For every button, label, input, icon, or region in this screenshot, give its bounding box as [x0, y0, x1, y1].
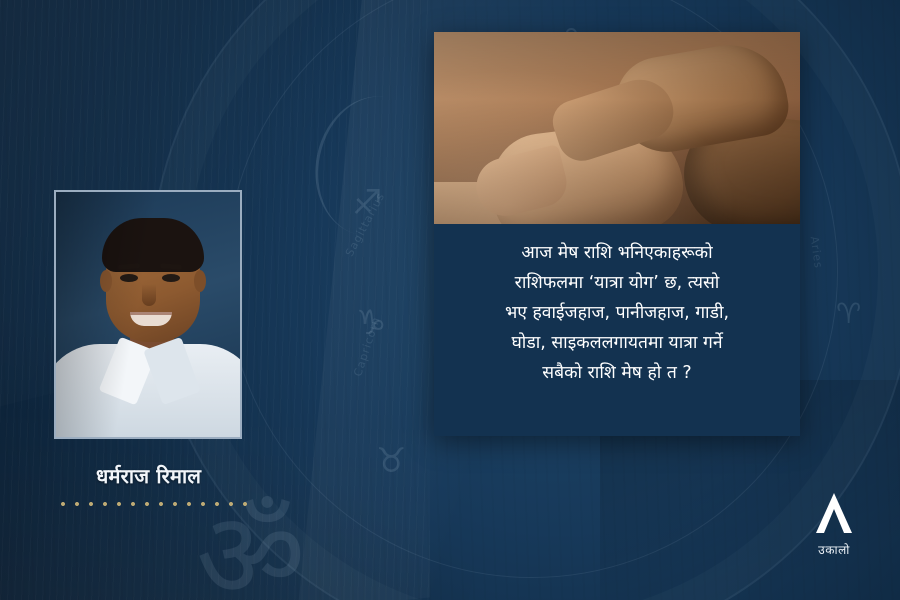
ukaalo-mark-icon	[811, 490, 857, 536]
dotted-divider	[56, 500, 252, 508]
quote-text-block: आज मेष राशि भनिएकाहरूको राशिफलमा ‘यात्रा…	[434, 224, 800, 436]
hands-photo	[434, 32, 800, 224]
brand-name: उकालो	[804, 541, 864, 558]
quote-line-1: आज मेष राशि भनिएकाहरूको	[452, 238, 782, 268]
quote-line-5: सबैको राशि मेष हो त ?	[452, 358, 782, 388]
quote-line-4: घोडा, साइकललगायतमा यात्रा गर्ने	[452, 328, 782, 358]
aries-icon: ♈	[836, 300, 861, 328]
om-symbol-watermark: ॐ	[196, 470, 305, 600]
quote-line-3: भए हवाईजहाज, पानीजहाज, गाडी,	[452, 298, 782, 328]
author-name: धर्मराज रिमाल	[96, 462, 201, 489]
quote-line-2: राशिफलमा ‘यात्रा योग’ छ, त्यसो	[452, 268, 782, 298]
taurus-icon: ♉	[376, 444, 406, 478]
quote-card: आज मेष राशि भनिएकाहरूको राशिफलमा ‘यात्रा…	[434, 32, 800, 436]
poster-canvas: ♐ Sagittarius ♑ Capricorn ♉ ♎ Libra ♈ Ar…	[0, 0, 900, 600]
brand-logo: उकालो	[804, 490, 864, 558]
author-photo	[54, 190, 242, 439]
